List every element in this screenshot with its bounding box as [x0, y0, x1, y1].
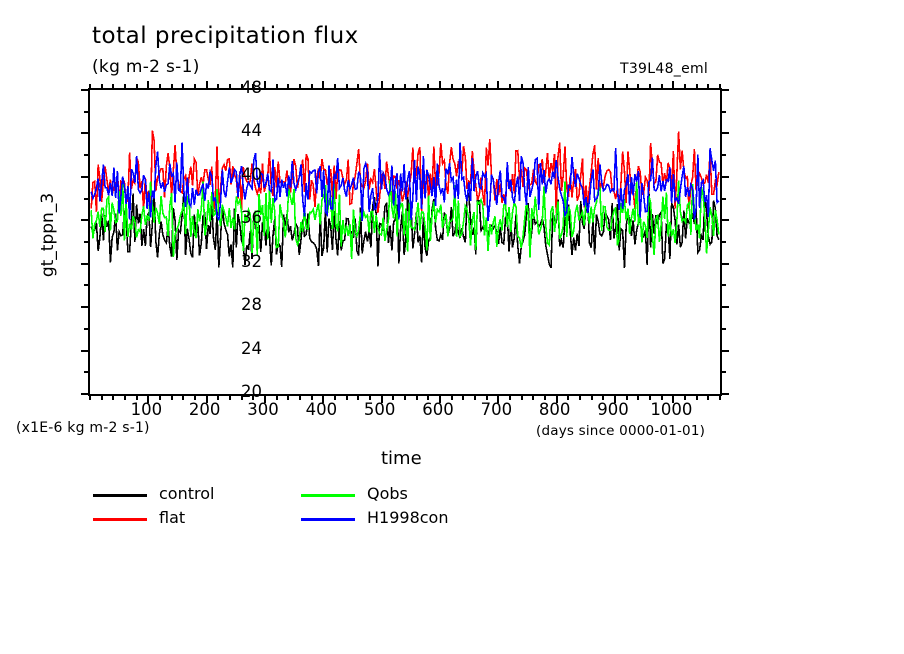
- y-tick-minor: [720, 111, 726, 113]
- x-tick-minor: [299, 84, 301, 90]
- x-tick-major: [556, 81, 558, 90]
- x-tick-minor: [637, 394, 639, 400]
- run-id-label: T39L48_eml: [620, 61, 708, 77]
- x-tick-label: 200: [189, 400, 221, 419]
- x-tick-minor: [136, 84, 138, 90]
- y-tick-minor: [720, 284, 726, 286]
- x-tick-minor: [696, 394, 698, 400]
- x-tick-label: 500: [364, 400, 396, 419]
- y-tick-major: [81, 176, 90, 178]
- x-tick-label: 1000: [650, 400, 692, 419]
- y-tick-major: [720, 219, 729, 221]
- plot-page: total precipitation flux (kg m-2 s-1) T3…: [0, 0, 904, 654]
- legend-label: Qobs: [367, 484, 408, 503]
- series-canvas: [90, 90, 720, 394]
- y-tick-label: 44: [216, 121, 262, 140]
- legend: controlflatQobsH1998con: [93, 486, 513, 532]
- x-tick-major: [439, 81, 441, 90]
- y-tick-major: [720, 306, 729, 308]
- x-tick-minor: [521, 394, 523, 400]
- x-tick-major: [206, 81, 208, 90]
- y-tick-major: [720, 263, 729, 265]
- x-tick-major: [672, 81, 674, 90]
- x-tick-major: [614, 81, 616, 90]
- y-tick-major: [81, 263, 90, 265]
- x-tick-minor: [707, 394, 709, 400]
- x-tick-minor: [579, 84, 581, 90]
- x-tick-minor: [346, 394, 348, 400]
- data-series-svg: [90, 90, 720, 394]
- x-tick-minor: [112, 84, 114, 90]
- x-tick-minor: [486, 84, 488, 90]
- x-tick-minor: [661, 84, 663, 90]
- y-tick-minor: [720, 328, 726, 330]
- x-tick-minor: [637, 84, 639, 90]
- x-tick-minor: [112, 394, 114, 400]
- y-tick-major: [81, 219, 90, 221]
- y-tick-label: 24: [216, 339, 262, 358]
- x-tick-minor: [124, 84, 126, 90]
- x-tick-minor: [707, 84, 709, 90]
- x-tick-minor: [182, 84, 184, 90]
- legend-swatch-icon: [93, 518, 147, 521]
- x-tick-minor: [591, 394, 593, 400]
- y-tick-minor: [84, 328, 90, 330]
- x-tick-minor: [416, 84, 418, 90]
- x-tick-minor: [404, 84, 406, 90]
- x-tick-label: 700: [481, 400, 513, 419]
- x-tick-minor: [416, 394, 418, 400]
- y-tick-major: [81, 306, 90, 308]
- y-tick-major: [720, 132, 729, 134]
- x-tick-minor: [346, 84, 348, 90]
- x-tick-label: 800: [539, 400, 571, 419]
- units-subtitle: (kg m-2 s-1): [92, 57, 200, 77]
- y-axis-unit-note: (x1E-6 kg m-2 s-1): [16, 420, 150, 436]
- x-tick-major: [497, 81, 499, 90]
- y-tick-minor: [84, 198, 90, 200]
- x-tick-minor: [89, 394, 91, 400]
- page-title: total precipitation flux: [92, 23, 359, 49]
- x-tick-minor: [591, 84, 593, 90]
- x-tick-minor: [462, 84, 464, 90]
- x-tick-minor: [101, 84, 103, 90]
- x-tick-minor: [649, 84, 651, 90]
- y-tick-minor: [720, 371, 726, 373]
- x-tick-minor: [171, 394, 173, 400]
- x-axis-label: time: [381, 448, 422, 469]
- y-axis-label: gt_tppn_3: [38, 165, 58, 305]
- x-tick-minor: [311, 84, 313, 90]
- x-tick-minor: [696, 84, 698, 90]
- y-tick-minor: [84, 241, 90, 243]
- y-tick-minor: [720, 241, 726, 243]
- y-tick-minor: [84, 154, 90, 156]
- legend-swatch-icon: [93, 494, 147, 497]
- x-tick-minor: [194, 84, 196, 90]
- x-axis-unit-note: (days since 0000-01-01): [536, 423, 705, 439]
- y-tick-major: [720, 176, 729, 178]
- x-tick-minor: [719, 394, 721, 400]
- x-tick-label: 600: [422, 400, 454, 419]
- y-tick-minor: [720, 198, 726, 200]
- x-tick-minor: [357, 394, 359, 400]
- x-tick-minor: [474, 394, 476, 400]
- plot-area: [88, 88, 722, 396]
- x-tick-label: 400: [306, 400, 338, 419]
- y-tick-label: 20: [216, 382, 262, 401]
- x-tick-minor: [474, 84, 476, 90]
- y-tick-label: 48: [216, 78, 262, 97]
- y-tick-major: [720, 89, 729, 91]
- x-tick-minor: [544, 84, 546, 90]
- x-tick-minor: [579, 394, 581, 400]
- y-tick-minor: [84, 111, 90, 113]
- x-tick-minor: [357, 84, 359, 90]
- legend-label: H1998con: [367, 508, 448, 527]
- x-tick-major: [264, 81, 266, 90]
- x-tick-major: [322, 81, 324, 90]
- x-tick-minor: [404, 394, 406, 400]
- y-tick-major: [81, 132, 90, 134]
- x-tick-label: 100: [131, 400, 163, 419]
- x-tick-minor: [334, 84, 336, 90]
- x-tick-minor: [684, 84, 686, 90]
- x-tick-label: 300: [247, 400, 279, 419]
- x-tick-major: [381, 81, 383, 90]
- x-tick-minor: [719, 84, 721, 90]
- x-tick-minor: [124, 394, 126, 400]
- legend-label: control: [159, 484, 214, 503]
- y-tick-minor: [720, 154, 726, 156]
- x-tick-minor: [626, 84, 628, 90]
- x-tick-minor: [392, 84, 394, 90]
- x-tick-label: 900: [597, 400, 629, 419]
- y-tick-label: 32: [216, 252, 262, 271]
- x-tick-minor: [89, 84, 91, 90]
- x-tick-minor: [427, 84, 429, 90]
- y-tick-label: 40: [216, 165, 262, 184]
- y-tick-label: 36: [216, 208, 262, 227]
- x-tick-minor: [287, 394, 289, 400]
- x-tick-minor: [451, 84, 453, 90]
- x-tick-minor: [299, 394, 301, 400]
- y-tick-major: [720, 393, 729, 395]
- x-tick-minor: [287, 84, 289, 90]
- x-tick-minor: [462, 394, 464, 400]
- y-tick-minor: [84, 284, 90, 286]
- legend-swatch-icon: [301, 494, 355, 497]
- x-tick-minor: [276, 84, 278, 90]
- x-tick-minor: [101, 394, 103, 400]
- x-tick-major: [147, 81, 149, 90]
- y-tick-major: [720, 350, 729, 352]
- x-tick-minor: [509, 84, 511, 90]
- x-tick-minor: [171, 84, 173, 90]
- x-tick-minor: [159, 84, 161, 90]
- x-tick-minor: [567, 84, 569, 90]
- x-tick-minor: [182, 394, 184, 400]
- y-tick-major: [81, 350, 90, 352]
- x-tick-minor: [532, 84, 534, 90]
- y-tick-label: 28: [216, 295, 262, 314]
- legend-label: flat: [159, 508, 185, 527]
- y-tick-minor: [84, 371, 90, 373]
- x-tick-minor: [369, 84, 371, 90]
- legend-swatch-icon: [301, 518, 355, 521]
- x-tick-minor: [532, 394, 534, 400]
- x-tick-minor: [521, 84, 523, 90]
- x-tick-minor: [602, 84, 604, 90]
